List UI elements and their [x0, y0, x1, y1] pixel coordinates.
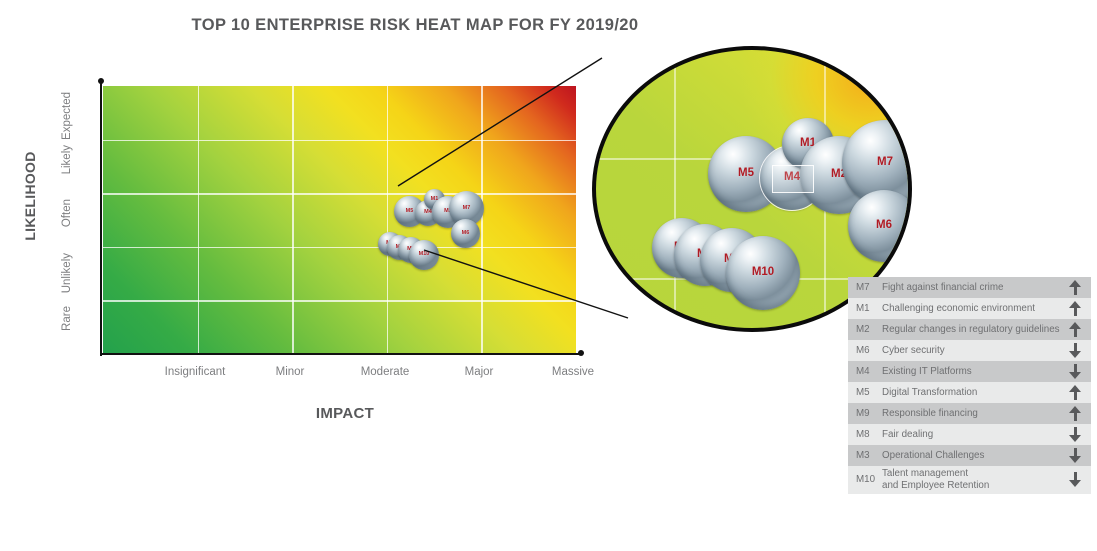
- legend-risk-label: Cyber security: [882, 345, 1065, 357]
- legend-risk-label: Fair dealing: [882, 429, 1065, 441]
- arrow-down-icon: [1065, 343, 1085, 358]
- risk-bubble-cluster: M5M4M1M2M7M6M3M8M9M10: [378, 178, 498, 278]
- risk-bubble-label: M4: [424, 210, 432, 216]
- legend-row-m6[interactable]: M6Cyber security: [848, 340, 1091, 361]
- arrow-up-icon: [1065, 322, 1085, 337]
- grid-line-vertical: [198, 86, 200, 354]
- risk-bubble-label: M5: [738, 168, 754, 180]
- page-title: TOP 10 ENTERPRISE RISK HEAT MAP FOR FY 2…: [0, 16, 830, 35]
- legend-row-m1[interactable]: M1Challenging economic environment: [848, 298, 1091, 319]
- risk-bubble-label: M6: [462, 231, 470, 237]
- legend-row-m4[interactable]: M4Existing IT Platforms: [848, 361, 1091, 382]
- legend-risk-label: Existing IT Platforms: [882, 366, 1065, 378]
- arrow-up-icon: [1065, 385, 1085, 400]
- legend-risk-code: M4: [856, 366, 882, 377]
- legend-row-m9[interactable]: M9Responsible financing: [848, 403, 1091, 424]
- x-axis-title: IMPACT: [205, 405, 485, 422]
- risk-legend-table: M7Fight against financial crimeM1Challen…: [848, 277, 1091, 494]
- grid-line-horizontal: [103, 193, 576, 195]
- x-axis-line: [100, 353, 581, 355]
- legend-risk-code: M2: [856, 324, 882, 335]
- legend-risk-code: M9: [856, 408, 882, 419]
- legend-risk-label: Challenging economic environment: [882, 303, 1065, 315]
- risk-bubble-m6[interactable]: M6: [451, 219, 480, 248]
- y-tick-rare: Rare: [61, 306, 73, 396]
- risk-bubble-label: M5: [406, 209, 414, 215]
- legend-risk-label: Digital Transformation: [882, 387, 1065, 399]
- x-axis-end-cap: [578, 350, 584, 356]
- legend-risk-code: M7: [856, 282, 882, 293]
- risk-bubble-label: M7: [877, 157, 893, 169]
- risk-bubble-label: M6: [876, 220, 892, 232]
- arrow-down-icon: [1065, 448, 1085, 463]
- risk-bubble-m6[interactable]: M6: [848, 190, 912, 262]
- risk-bubble-label: M7: [463, 206, 471, 212]
- legend-row-m10[interactable]: M10Talent managementand Employee Retenti…: [848, 466, 1091, 494]
- legend-row-m3[interactable]: M3Operational Challenges: [848, 445, 1091, 466]
- heat-map-plot-area: M5M4M1M2M7M6M3M8M9M10: [103, 86, 576, 354]
- grid-line-horizontal: [103, 300, 576, 302]
- y-axis-title: LIKELIHOOD: [22, 136, 38, 256]
- x-tick-insignificant: Insignificant: [140, 366, 250, 378]
- grid-line-horizontal: [103, 140, 576, 142]
- legend-risk-label: Operational Challenges: [882, 450, 1065, 462]
- legend-risk-code: M8: [856, 429, 882, 440]
- legend-risk-code: M1: [856, 303, 882, 314]
- legend-row-m7[interactable]: M7Fight against financial crime: [848, 277, 1091, 298]
- risk-bubble-label: M10: [419, 252, 430, 258]
- legend-risk-code: M10: [856, 474, 882, 485]
- legend-risk-label: Regular changes in regulatory guidelines: [882, 324, 1065, 336]
- risk-bubble-m10[interactable]: M10: [726, 236, 800, 310]
- y-axis-end-cap: [98, 78, 104, 84]
- grid-line-horizontal: [103, 247, 576, 249]
- legend-risk-label: Talent managementand Employee Retention: [882, 468, 1065, 492]
- legend-risk-label: Fight against financial crime: [882, 282, 1065, 294]
- grid-line-vertical: [292, 86, 294, 354]
- legend-risk-code: M3: [856, 450, 882, 461]
- legend-row-m5[interactable]: M5Digital Transformation: [848, 382, 1091, 403]
- x-tick-minor: Minor: [235, 366, 345, 378]
- risk-bubble-m10[interactable]: M10: [409, 240, 439, 270]
- y-axis-line: [100, 80, 102, 356]
- arrow-down-icon: [1065, 364, 1085, 379]
- arrow-up-icon: [1065, 301, 1085, 316]
- x-tick-massive: Massive: [518, 366, 628, 378]
- legend-row-m2[interactable]: M2Regular changes in regulatory guidelin…: [848, 319, 1091, 340]
- legend-row-m8[interactable]: M8Fair dealing: [848, 424, 1091, 445]
- legend-risk-code: M5: [856, 387, 882, 398]
- arrow-up-icon: [1065, 406, 1085, 421]
- risk-bubble-label: M10: [752, 267, 774, 279]
- arrow-down-icon: [1065, 472, 1085, 487]
- arrow-up-icon: [1065, 280, 1085, 295]
- legend-risk-label: Responsible financing: [882, 408, 1065, 420]
- legend-risk-code: M6: [856, 345, 882, 356]
- arrow-down-icon: [1065, 427, 1085, 442]
- bubble-selection-box[interactable]: [772, 165, 814, 193]
